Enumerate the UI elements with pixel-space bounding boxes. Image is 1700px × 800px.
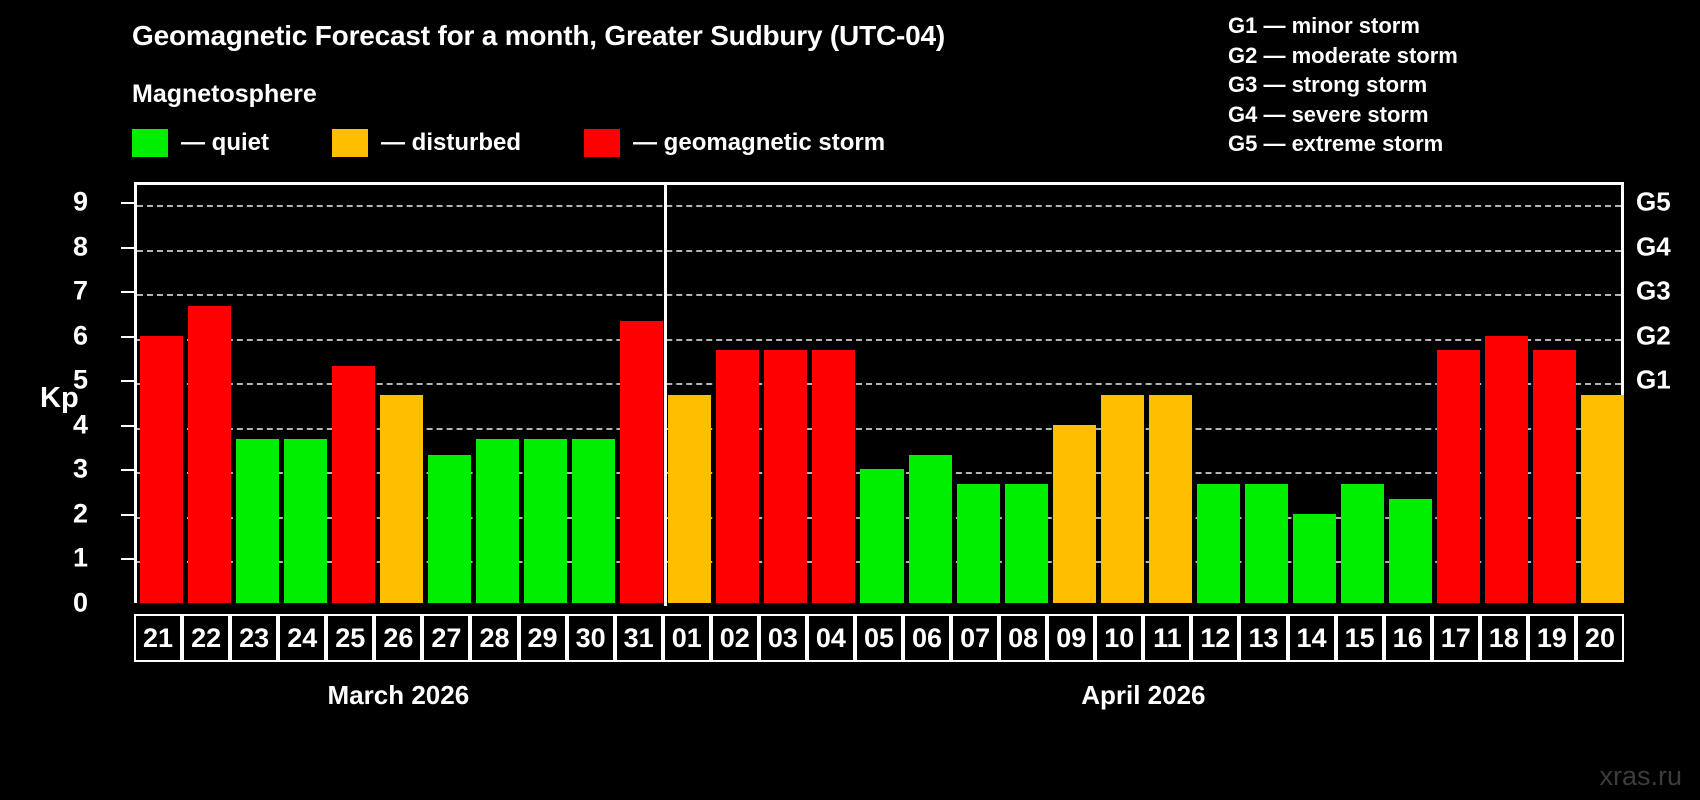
bar-series <box>137 185 1621 603</box>
bar-17[interactable] <box>1437 350 1480 603</box>
legend-swatch-quiet-icon <box>132 129 168 157</box>
bar-24[interactable] <box>284 439 327 603</box>
g-axis-label-g1: G1 <box>1636 365 1671 396</box>
y-tick-label-2: 2 <box>28 498 88 529</box>
g-axis-label-g2: G2 <box>1636 320 1671 351</box>
y-tick-label-7: 7 <box>28 276 88 307</box>
y-tick-label-8: 8 <box>28 231 88 262</box>
storm-scale-g3: G3 — strong storm <box>1228 70 1458 100</box>
day-label-23[interactable]: 23 <box>230 614 278 662</box>
day-label-31[interactable]: 31 <box>615 614 663 662</box>
day-label-09[interactable]: 09 <box>1047 614 1095 662</box>
legend-item-storm: — geomagnetic storm <box>584 128 885 158</box>
day-label-28[interactable]: 28 <box>470 614 518 662</box>
bar-25[interactable] <box>332 366 375 603</box>
y-tick-label-6: 6 <box>28 320 88 351</box>
bar-09[interactable] <box>1053 425 1096 603</box>
y-tick-label-4: 4 <box>28 409 88 440</box>
y-tick-label-9: 9 <box>28 187 88 218</box>
day-label-06[interactable]: 06 <box>903 614 951 662</box>
bar-05[interactable] <box>860 469 903 603</box>
y-tick-mark-1 <box>121 558 134 560</box>
plot-area <box>134 182 1624 603</box>
day-label-02[interactable]: 02 <box>711 614 759 662</box>
bar-20[interactable] <box>1581 395 1624 603</box>
bar-01[interactable] <box>668 395 711 603</box>
legend-item-quiet: — quiet <box>132 128 269 158</box>
bar-29[interactable] <box>524 439 567 603</box>
bar-19[interactable] <box>1533 350 1576 603</box>
bar-12[interactable] <box>1197 484 1240 603</box>
bar-13[interactable] <box>1245 484 1288 603</box>
month-caption-april: April 2026 <box>1081 680 1205 711</box>
bar-18[interactable] <box>1485 336 1528 603</box>
y-tick-mark-6 <box>121 336 134 338</box>
day-label-27[interactable]: 27 <box>422 614 470 662</box>
legend-item-disturbed: — disturbed <box>332 128 521 158</box>
y-tick-label-3: 3 <box>28 454 88 485</box>
bar-26[interactable] <box>380 395 423 603</box>
day-label-08[interactable]: 08 <box>999 614 1047 662</box>
day-label-11[interactable]: 11 <box>1143 614 1191 662</box>
day-label-03[interactable]: 03 <box>759 614 807 662</box>
day-label-25[interactable]: 25 <box>326 614 374 662</box>
legend-label-storm: — geomagnetic storm <box>633 129 885 157</box>
bar-02[interactable] <box>716 350 759 603</box>
bar-10[interactable] <box>1101 395 1144 603</box>
bar-04[interactable] <box>812 350 855 603</box>
storm-scale-g5: G5 — extreme storm <box>1228 129 1458 159</box>
watermark: xras.ru <box>1599 761 1682 792</box>
page-title: Geomagnetic Forecast for a month, Greate… <box>132 20 945 52</box>
day-label-19[interactable]: 19 <box>1528 614 1576 662</box>
bar-22[interactable] <box>188 306 231 603</box>
storm-scale-g1: G1 — minor storm <box>1228 11 1458 41</box>
g-axis-label-g4: G4 <box>1636 231 1671 262</box>
legend-heading: Magnetosphere <box>132 80 317 109</box>
bar-15[interactable] <box>1341 484 1384 603</box>
y-tick-mark-7 <box>121 291 134 293</box>
day-label-26[interactable]: 26 <box>374 614 422 662</box>
day-label-30[interactable]: 30 <box>567 614 615 662</box>
storm-scale-g4: G4 — severe storm <box>1228 100 1458 130</box>
day-label-14[interactable]: 14 <box>1288 614 1336 662</box>
g-axis-label-g5: G5 <box>1636 187 1671 218</box>
magnetosphere-legend: — quiet — disturbed — geomagnetic storm <box>132 128 885 158</box>
legend-swatch-disturbed-icon <box>332 129 368 157</box>
bar-06[interactable] <box>909 455 952 603</box>
y-tick-label-0: 0 <box>28 588 88 619</box>
month-caption-march: March 2026 <box>328 680 470 711</box>
bar-30[interactable] <box>572 439 615 603</box>
legend-label-disturbed: — disturbed <box>381 129 521 157</box>
y-tick-mark-2 <box>121 514 134 516</box>
day-label-05[interactable]: 05 <box>855 614 903 662</box>
bar-21[interactable] <box>140 336 183 603</box>
month-divider <box>664 182 667 606</box>
storm-scale-legend: G1 — minor storm G2 — moderate storm G3 … <box>1228 11 1458 159</box>
y-tick-label-1: 1 <box>28 543 88 574</box>
day-label-29[interactable]: 29 <box>519 614 567 662</box>
y-tick-mark-3 <box>121 469 134 471</box>
day-label-15[interactable]: 15 <box>1336 614 1384 662</box>
day-label-18[interactable]: 18 <box>1480 614 1528 662</box>
day-label-17[interactable]: 17 <box>1432 614 1480 662</box>
day-label-04[interactable]: 04 <box>807 614 855 662</box>
plot-inner <box>137 185 1621 603</box>
bar-23[interactable] <box>236 439 279 603</box>
legend-swatch-storm-icon <box>584 129 620 157</box>
day-label-16[interactable]: 16 <box>1384 614 1432 662</box>
bar-03[interactable] <box>764 350 807 603</box>
legend-label-quiet: — quiet <box>181 129 269 157</box>
day-label-20[interactable]: 20 <box>1576 614 1624 662</box>
day-label-24[interactable]: 24 <box>278 614 326 662</box>
bar-14[interactable] <box>1293 514 1336 603</box>
bar-11[interactable] <box>1149 395 1192 603</box>
day-label-10[interactable]: 10 <box>1095 614 1143 662</box>
day-axis-labels: 2122232425262728293031010203040506070809… <box>134 614 1624 662</box>
day-label-01[interactable]: 01 <box>663 614 711 662</box>
bar-16[interactable] <box>1389 499 1432 603</box>
y-tick-mark-8 <box>121 247 134 249</box>
geomagnetic-forecast-chart: Geomagnetic Forecast for a month, Greate… <box>0 0 1700 800</box>
bar-27[interactable] <box>428 455 471 603</box>
day-label-21[interactable]: 21 <box>134 614 182 662</box>
y-tick-mark-5 <box>121 380 134 382</box>
g-axis-label-g3: G3 <box>1636 276 1671 307</box>
day-label-12[interactable]: 12 <box>1191 614 1239 662</box>
y-tick-mark-4 <box>121 425 134 427</box>
bar-07[interactable] <box>957 484 1000 603</box>
day-label-22[interactable]: 22 <box>182 614 230 662</box>
bar-28[interactable] <box>476 439 519 603</box>
y-tick-label-5: 5 <box>28 365 88 396</box>
storm-scale-g2: G2 — moderate storm <box>1228 41 1458 71</box>
bar-31[interactable] <box>620 321 663 603</box>
day-label-07[interactable]: 07 <box>951 614 999 662</box>
day-label-13[interactable]: 13 <box>1239 614 1287 662</box>
bar-08[interactable] <box>1005 484 1048 603</box>
y-tick-mark-9 <box>121 202 134 204</box>
